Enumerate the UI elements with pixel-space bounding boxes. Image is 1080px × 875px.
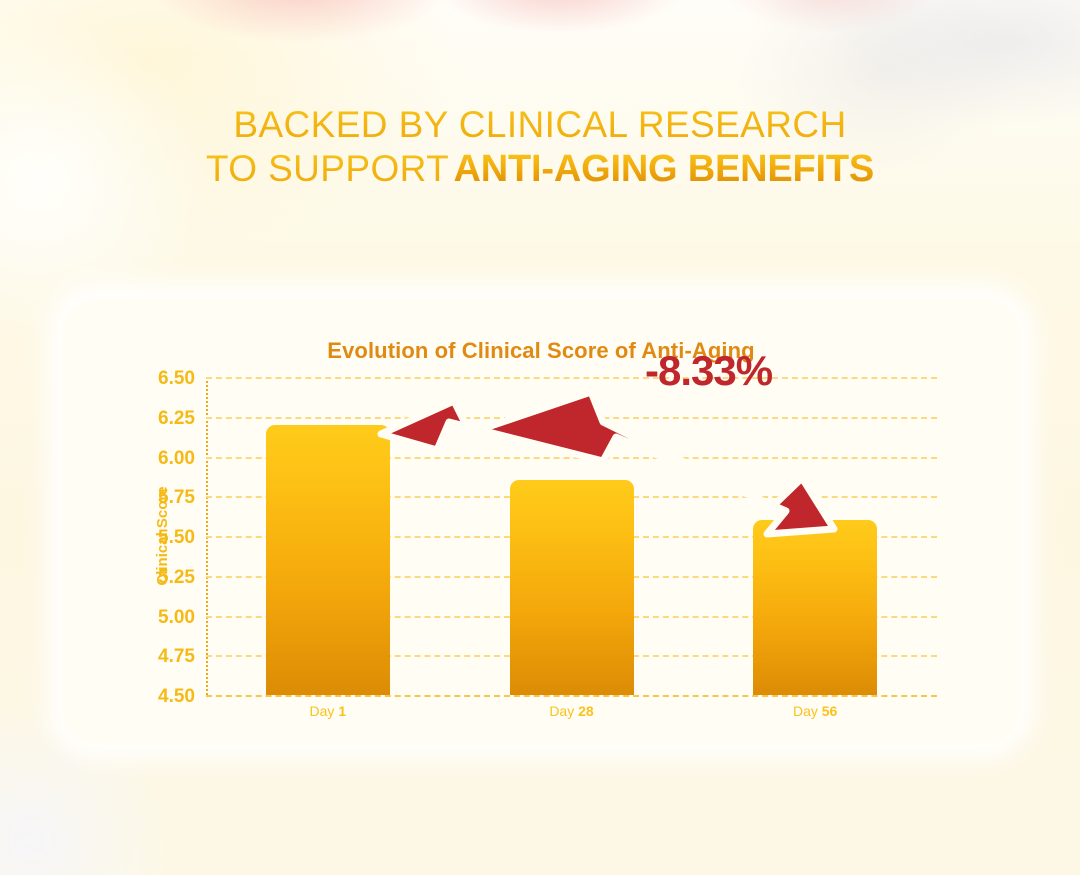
x-axis-tick-label: Day 28: [549, 703, 593, 719]
headline-line-2: TO SUPPORT ANTI-AGING BENEFITS: [0, 147, 1080, 191]
chart-card: Evolution of Clinical Score of Anti-Agin…: [62, 298, 1020, 745]
y-axis-tick-label: 5.75: [158, 487, 195, 509]
x-axis-tick-label: Day 56: [793, 703, 837, 719]
y-axis-tick-label: 5.25: [158, 567, 195, 589]
headline-line-1-text: BACKED BY CLINICAL RESEARCH: [233, 104, 846, 145]
y-axis-tick-label: 6.50: [158, 368, 195, 390]
y-axis-tick-label: 4.50: [158, 686, 195, 708]
chart-plot-area: Clinical Score 6.506.256.005.755.505.255…: [206, 377, 937, 695]
headline-line-1: BACKED BY CLINICAL RESEARCH: [0, 104, 1080, 147]
bar-day-56: [753, 520, 877, 695]
bar-day-28: [510, 480, 634, 695]
page-headline: BACKED BY CLINICAL RESEARCH TO SUPPORT A…: [0, 104, 1080, 191]
y-axis-tick-label: 6.25: [158, 408, 195, 430]
gridline: 6.50: [206, 377, 937, 379]
y-axis-tick-label: 5.00: [158, 607, 195, 629]
y-axis-tick-label: 4.75: [158, 646, 195, 668]
bar-day-1: [266, 425, 390, 695]
gridline: 6.25: [206, 417, 937, 419]
change-annotation: -8.33%: [645, 347, 772, 395]
headline-line-2-bold-text: ANTI-AGING BENEFITS: [454, 148, 875, 190]
y-axis-tick-label: 5.50: [158, 527, 195, 549]
x-axis-tick-label: Day 1: [310, 703, 347, 719]
headline-line-2-light-text: TO SUPPORT: [206, 148, 449, 189]
chart-title: Evolution of Clinical Score of Anti-Agin…: [62, 338, 1020, 364]
y-axis-tick-label: 6.00: [158, 448, 195, 470]
gridline: 4.50: [206, 695, 937, 697]
